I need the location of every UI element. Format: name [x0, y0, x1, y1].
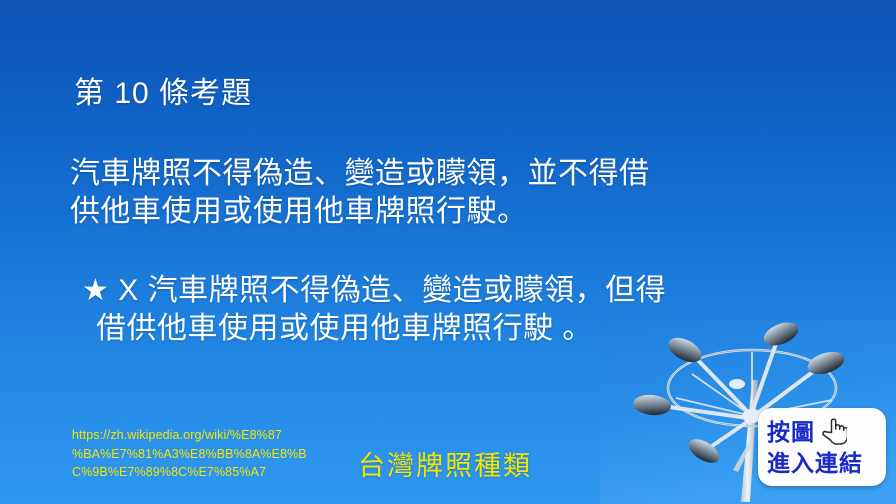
- statute-paragraph-correct: 汽車牌照不得偽造、變造或矇領，並不得借 供他車使用或使用他車牌照行駛。: [70, 155, 860, 232]
- statute-line: 供他車使用或使用他車牌照行駛。: [70, 193, 860, 231]
- url-line: %BA%E7%81%A3%E8%BB%8A%E8%B: [72, 445, 342, 464]
- url-line: https://zh.wikipedia.org/wiki/%E8%87: [72, 426, 342, 445]
- statute-line: 汽車牌照不得偽造、變造或矇領，並不得借: [70, 155, 860, 193]
- page-title: 第 10 條考題: [74, 68, 252, 112]
- presentation-slide: 第 10 條考題 汽車牌照不得偽造、變造或矇領，並不得借 供他車使用或使用他車牌…: [0, 0, 896, 504]
- badge-label-line1: 按圖: [767, 419, 815, 446]
- enter-link-badge[interactable]: 按圖 進入連結: [758, 408, 886, 486]
- badge-row-top: 按圖: [767, 415, 879, 450]
- statute-line: ★ X 汽車牌照不得偽造、變造或矇領，但得: [82, 272, 872, 310]
- pointing-hand-cursor-icon: [821, 415, 847, 450]
- link-caption[interactable]: 台灣牌照種類: [358, 444, 532, 483]
- badge-row-bottom: 進入連結: [767, 450, 879, 477]
- source-url[interactable]: https://zh.wikipedia.org/wiki/%E8%87 %BA…: [72, 426, 342, 482]
- url-line: C%9B%E7%89%8C%E7%85%A7: [72, 463, 342, 482]
- badge-label-line2: 進入連結: [767, 450, 863, 477]
